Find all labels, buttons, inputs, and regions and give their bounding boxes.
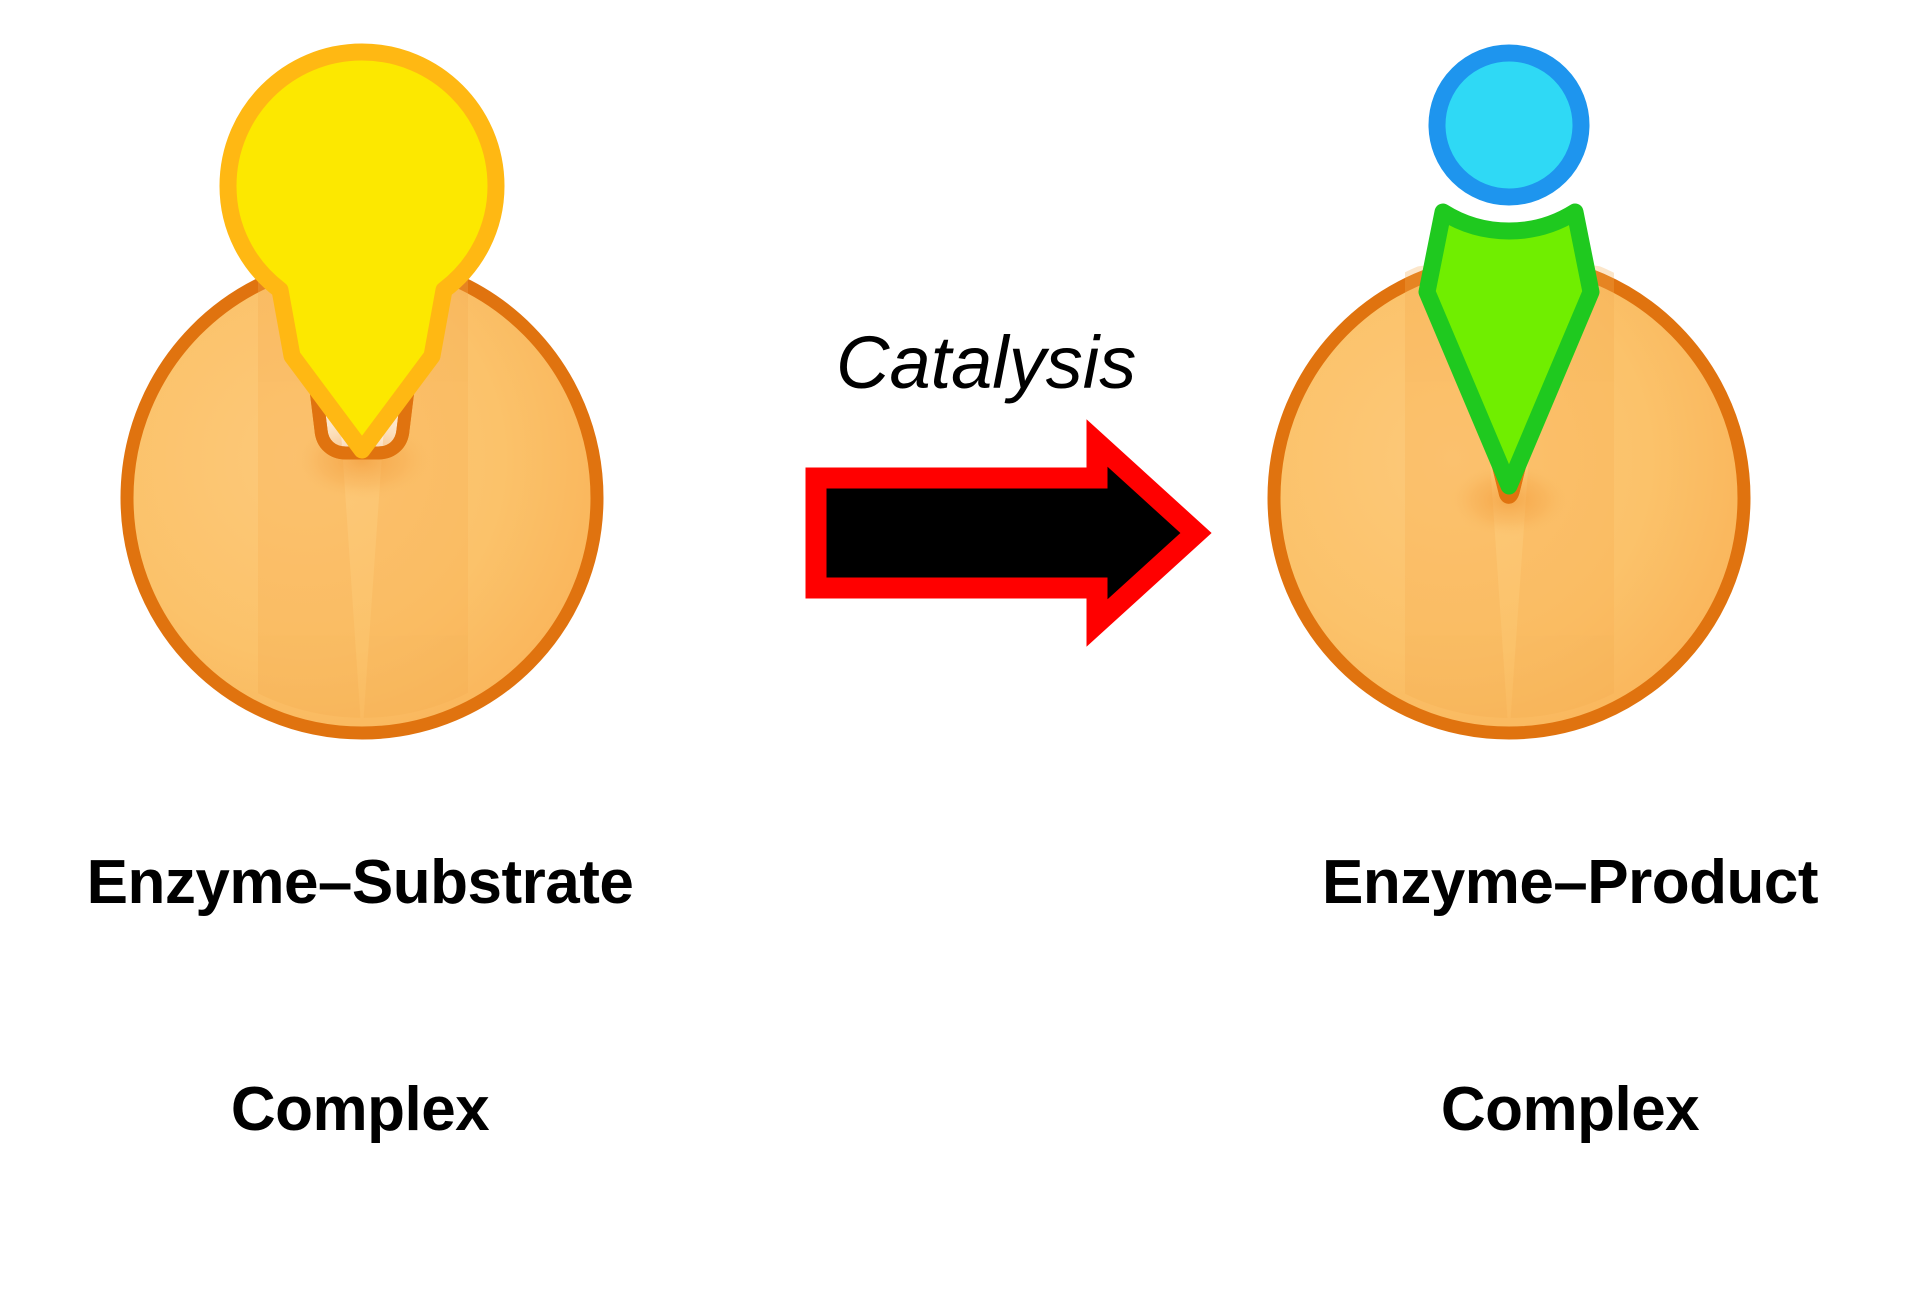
- left-complex-label-line1: Enzyme–Substrate: [40, 845, 680, 921]
- arrow-black-red-outline: [816, 443, 1196, 623]
- right-complex-label-line1: Enzyme–Product: [1250, 845, 1890, 921]
- left-complex-label-line2: Complex: [40, 1072, 680, 1148]
- catalysis-caption: Catalysis: [836, 320, 1136, 405]
- reaction-arrow: [816, 443, 1196, 623]
- right-complex-label: Enzyme–Product Complex: [1250, 694, 1890, 1299]
- left-complex-label: Enzyme–Substrate Complex: [40, 694, 680, 1299]
- enzyme-substrate-complex: [127, 52, 597, 740]
- product-fragment-blue: [1437, 53, 1581, 197]
- enzyme-product-complex: [1274, 53, 1744, 740]
- diagram-canvas: Catalysis Enzyme–Substrate Complex Enzym…: [0, 0, 1929, 1100]
- right-complex-label-line2: Complex: [1250, 1072, 1890, 1148]
- product-blue-circle: [1437, 53, 1581, 197]
